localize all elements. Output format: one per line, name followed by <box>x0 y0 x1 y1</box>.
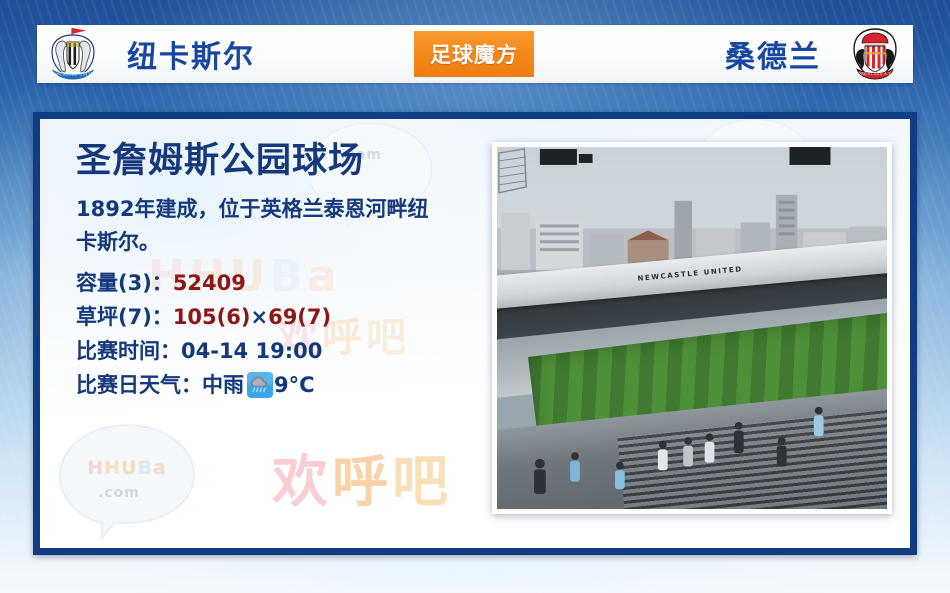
photo-floodlight-gantries <box>497 147 887 227</box>
rain-cloud-icon <box>247 372 273 398</box>
match-header: NEWCASTLE UNITED 纽卡斯尔 足球魔方 桑德兰 <box>37 25 913 83</box>
watermark-speech-bubble <box>52 419 202 541</box>
home-team-block[interactable]: NEWCASTLE UNITED 纽卡斯尔 <box>37 25 414 83</box>
pitch-size-label: 草坪(7)： <box>76 300 173 334</box>
weather-condition: 中雨 <box>202 368 244 402</box>
stadium-title: 圣詹姆斯公园球场 <box>76 141 496 181</box>
pitch-width-value: 69(7) <box>268 300 331 334</box>
away-team-name: 桑德兰 <box>725 32 821 76</box>
fact-row-pitch-size: 草坪(7)： 105(6) × 69(7) <box>76 300 496 334</box>
kickoff-label: 比赛时间： <box>76 334 181 368</box>
site-brand-logo[interactable]: 足球魔方 <box>414 31 534 77</box>
newcastle-united-crest: NEWCASTLE UNITED <box>45 25 101 83</box>
fact-row-kickoff: 比赛时间： 04-14 19:00 <box>76 334 496 368</box>
photo-spectators <box>497 386 887 509</box>
watermark-huanhuba-cn: 欢呼吧 <box>272 437 452 518</box>
pitch-length-value: 105(6) <box>173 300 251 334</box>
stadium-description: 1892年建成，位于英格兰泰恩河畔纽卡斯尔。 <box>76 193 448 258</box>
bottom-fade <box>0 553 950 593</box>
svg-text:NEWCASTLE UNITED: NEWCASTLE UNITED <box>49 72 97 77</box>
stadium-info-panel-inner: HHUBa .com .com .com 欢呼吧 HHUBa 欢呼吧 圣詹 <box>40 119 910 548</box>
away-team-block[interactable]: 桑德兰 SUNDERLAND A.F.C. <box>534 25 913 83</box>
stadium-text-column: 圣詹姆斯公园球场 1892年建成，位于英格兰泰恩河畔纽卡斯尔。 容量(3)： 5… <box>76 141 496 402</box>
fact-row-capacity: 容量(3)： 52409 <box>76 266 496 300</box>
weather-label: 比赛日天气： <box>76 368 202 402</box>
fact-row-weather: 比赛日天气： 中雨 9°C <box>76 368 496 402</box>
svg-text:SUNDERLAND A.F.C.: SUNDERLAND A.F.C. <box>854 72 897 76</box>
home-team-name: 纽卡斯尔 <box>127 32 255 76</box>
stadium-photo: NEWCASTLE UNITED <box>497 147 887 509</box>
watermark-bubble-domain: .com <box>98 485 140 501</box>
stadium-photo-frame: NEWCASTLE UNITED <box>492 142 892 514</box>
match-stadium-card: NEWCASTLE UNITED 纽卡斯尔 足球魔方 桑德兰 <box>0 0 950 593</box>
capacity-value: 52409 <box>173 266 246 300</box>
pitch-size-separator: × <box>250 300 268 334</box>
capacity-label: 容量(3)： <box>76 266 173 300</box>
watermark-bubble-text: HHUBa <box>60 457 194 479</box>
sunderland-afc-crest: SUNDERLAND A.F.C. <box>847 25 903 83</box>
stadium-fact-list: 容量(3)： 52409 草坪(7)： 105(6) × 69(7) 比赛时间：… <box>76 266 496 402</box>
weather-temperature: 9°C <box>274 368 315 402</box>
photo-roof-caption: NEWCASTLE UNITED <box>638 266 744 284</box>
stadium-info-panel: HHUBa .com .com .com 欢呼吧 HHUBa 欢呼吧 圣詹 <box>33 112 917 555</box>
site-brand-text: 足球魔方 <box>430 39 518 69</box>
kickoff-value: 04-14 19:00 <box>181 334 322 368</box>
